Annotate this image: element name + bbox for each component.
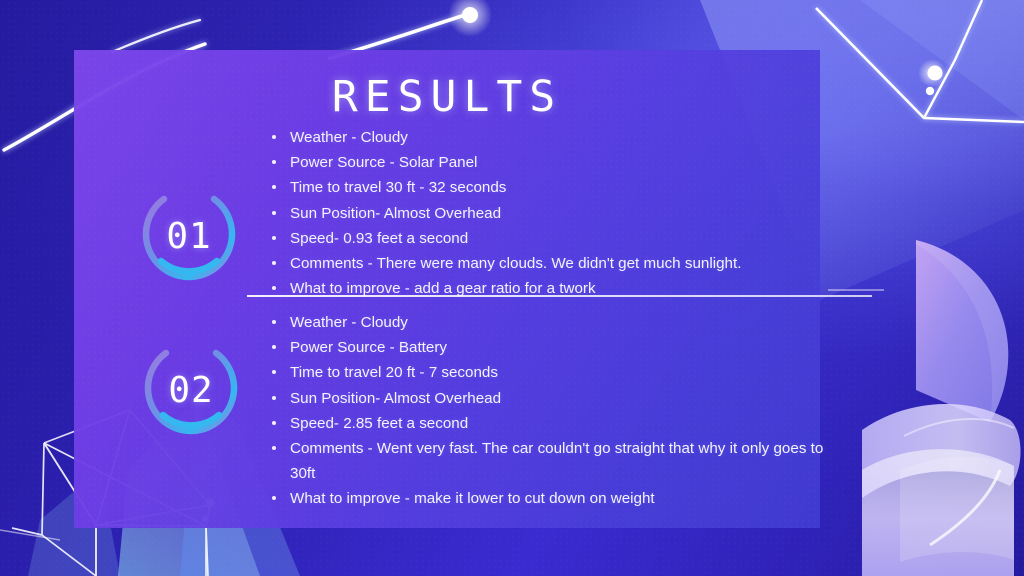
- list-item: What to improve - add a gear ratio for a…: [272, 276, 872, 301]
- list-item: Speed- 2.85 feet a second: [272, 411, 852, 436]
- list-item: What to improve - make it lower to cut d…: [272, 486, 852, 511]
- list-item: Time to travel 30 ft - 32 seconds: [272, 175, 872, 200]
- list-item: Speed- 0.93 feet a second: [272, 226, 872, 251]
- list-item: Power Source - Battery: [272, 335, 852, 360]
- curved-ribbon-right: [862, 240, 1024, 576]
- list-item: Weather - Cloudy: [272, 310, 852, 335]
- trial-01-number: 01: [140, 187, 238, 285]
- list-item: Weather - Cloudy: [272, 125, 872, 150]
- section-divider: [247, 295, 872, 297]
- list-item: Time to travel 20 ft - 7 seconds: [272, 360, 852, 385]
- trial-02-list: Weather - Cloudy Power Source - Battery …: [272, 310, 852, 511]
- list-item: Comments - There were many clouds. We di…: [272, 251, 872, 276]
- list-item: Sun Position- Almost Overhead: [272, 386, 852, 411]
- list-item: Sun Position- Almost Overhead: [272, 201, 872, 226]
- trial-02-badge: 02: [142, 341, 240, 439]
- trial-02-number: 02: [142, 341, 240, 439]
- list-item: Power Source - Solar Panel: [272, 150, 872, 175]
- slide-canvas: RESULTS 01 Weather - Cloudy Power Source…: [0, 0, 1024, 576]
- trial-01-list: Weather - Cloudy Power Source - Solar Pa…: [272, 125, 872, 301]
- list-item: Comments - Went very fast. The car could…: [272, 436, 852, 486]
- trial-01-badge: 01: [140, 187, 238, 285]
- page-title: RESULTS: [74, 72, 820, 122]
- comet-dot-top: [462, 7, 478, 23]
